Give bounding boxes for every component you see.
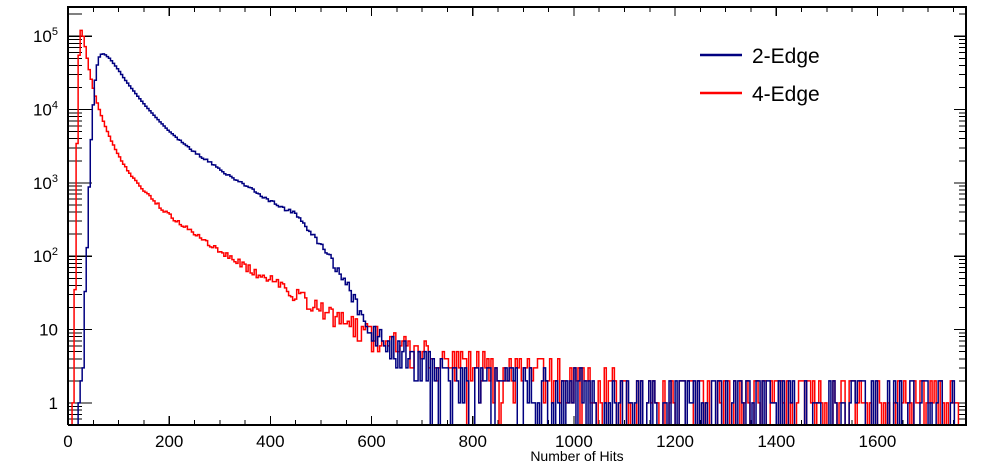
legend-label-2-edge: 2-Edge	[752, 45, 820, 68]
plot-background	[0, 0, 996, 472]
y-tick-label: 10	[39, 321, 58, 340]
x-tick-label: 800	[459, 432, 487, 451]
x-tick-label: 600	[357, 432, 385, 451]
x-tick-label: 0	[63, 432, 72, 451]
y-tick-label: 1	[49, 394, 58, 413]
histogram-plot: 0200400600800100012001400160011010210310…	[0, 0, 996, 472]
x-axis-title: Number of Hits	[530, 448, 623, 464]
x-tick-label: 1600	[859, 432, 897, 451]
chart-canvas: 0200400600800100012001400160011010210310…	[0, 0, 996, 472]
x-tick-label: 400	[256, 432, 284, 451]
legend-label-4-edge: 4-Edge	[752, 83, 820, 106]
x-tick-label: 200	[155, 432, 183, 451]
x-tick-label: 1400	[757, 432, 795, 451]
x-tick-label: 1200	[656, 432, 694, 451]
